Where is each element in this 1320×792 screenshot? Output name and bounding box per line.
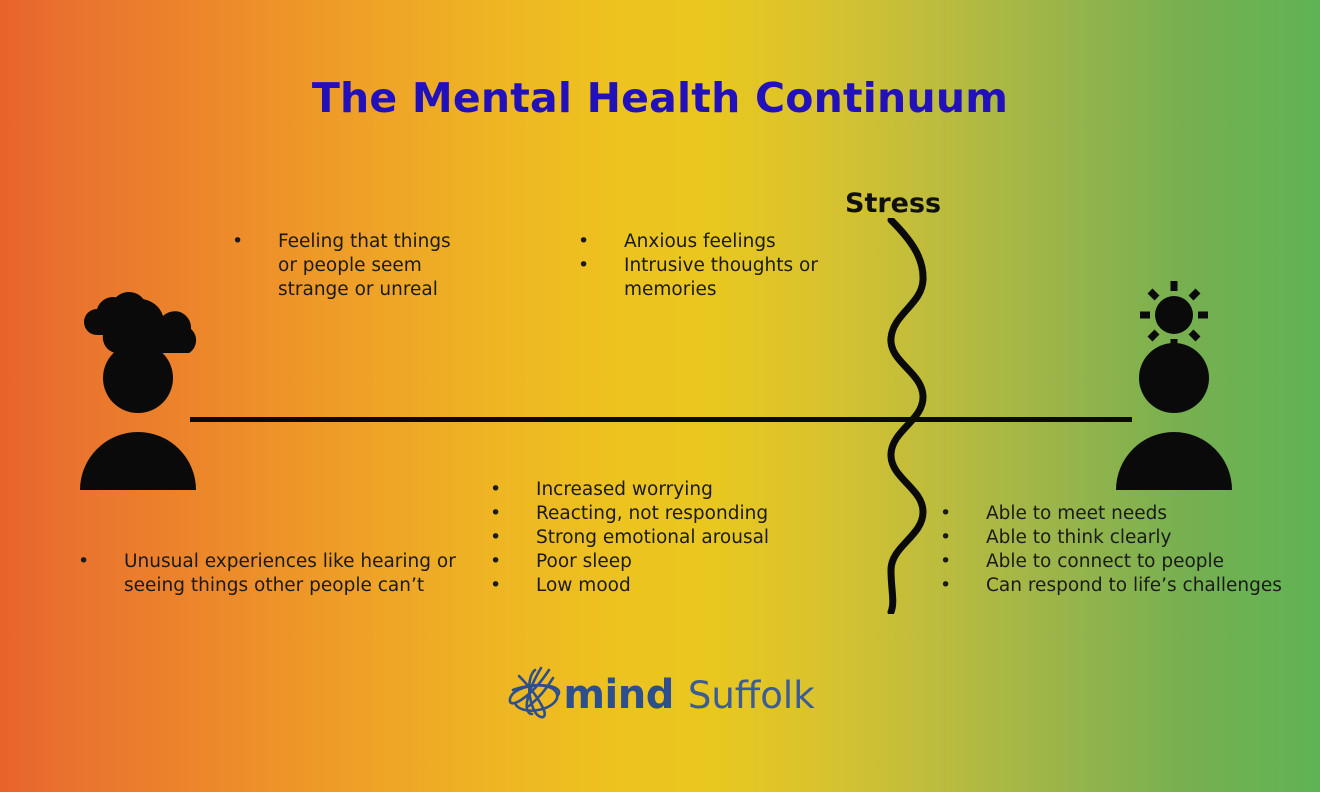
person-with-storm-clouds-icon <box>72 278 217 493</box>
page-title: The Mental Health Continuum <box>0 74 1320 122</box>
list-item: Reacting, not responding <box>490 502 800 526</box>
bullet-block-healthy-signs: Able to meet needs Able to think clearly… <box>940 502 1310 598</box>
stress-label: Stress <box>845 188 941 219</box>
list-item: Feeling that things or people seem stran… <box>232 230 462 302</box>
bullet-block-stress-signs: Increased worrying Reacting, not respond… <box>490 478 800 598</box>
list-item: Intrusive thoughts or memories <box>578 254 846 302</box>
list-item: Able to connect to people <box>940 550 1310 574</box>
bullet-list: Able to meet needs Able to think clearly… <box>940 502 1310 598</box>
list-item: Able to think clearly <box>940 526 1310 550</box>
list-item: Able to meet needs <box>940 502 1310 526</box>
continuum-axis-line <box>190 417 1132 422</box>
list-item: Unusual experiences like hearing or seei… <box>78 550 478 598</box>
mind-scribble-icon <box>505 664 567 726</box>
stress-squiggle-line <box>862 218 942 614</box>
bullet-block-anxious: Anxious feelings Intrusive thoughts or m… <box>578 230 846 302</box>
list-item: Increased worrying <box>490 478 800 502</box>
bullet-list: Feeling that things or people seem stran… <box>232 230 462 302</box>
logo-word-mind: mind <box>563 675 674 715</box>
person-with-sun-icon <box>1108 278 1253 493</box>
list-item: Low mood <box>490 574 800 598</box>
bullet-block-unusual-experiences: Unusual experiences like hearing or seei… <box>78 550 478 598</box>
list-item: Strong emotional arousal <box>490 526 800 550</box>
list-item: Anxious feelings <box>578 230 846 254</box>
infographic-canvas: The Mental Health Continuum Stress <box>0 0 1320 792</box>
list-item: Can respond to life’s challenges <box>940 574 1310 598</box>
bullet-block-derealisation: Feeling that things or people seem stran… <box>232 230 462 302</box>
bullet-list: Unusual experiences like hearing or seei… <box>78 550 478 598</box>
bullet-list: Anxious feelings Intrusive thoughts or m… <box>578 230 846 302</box>
logo-word-suffolk: Suffolk <box>688 677 815 714</box>
bullet-list: Increased worrying Reacting, not respond… <box>490 478 800 598</box>
list-item: Poor sleep <box>490 550 800 574</box>
mind-suffolk-logo: mind Suffolk <box>0 664 1320 726</box>
